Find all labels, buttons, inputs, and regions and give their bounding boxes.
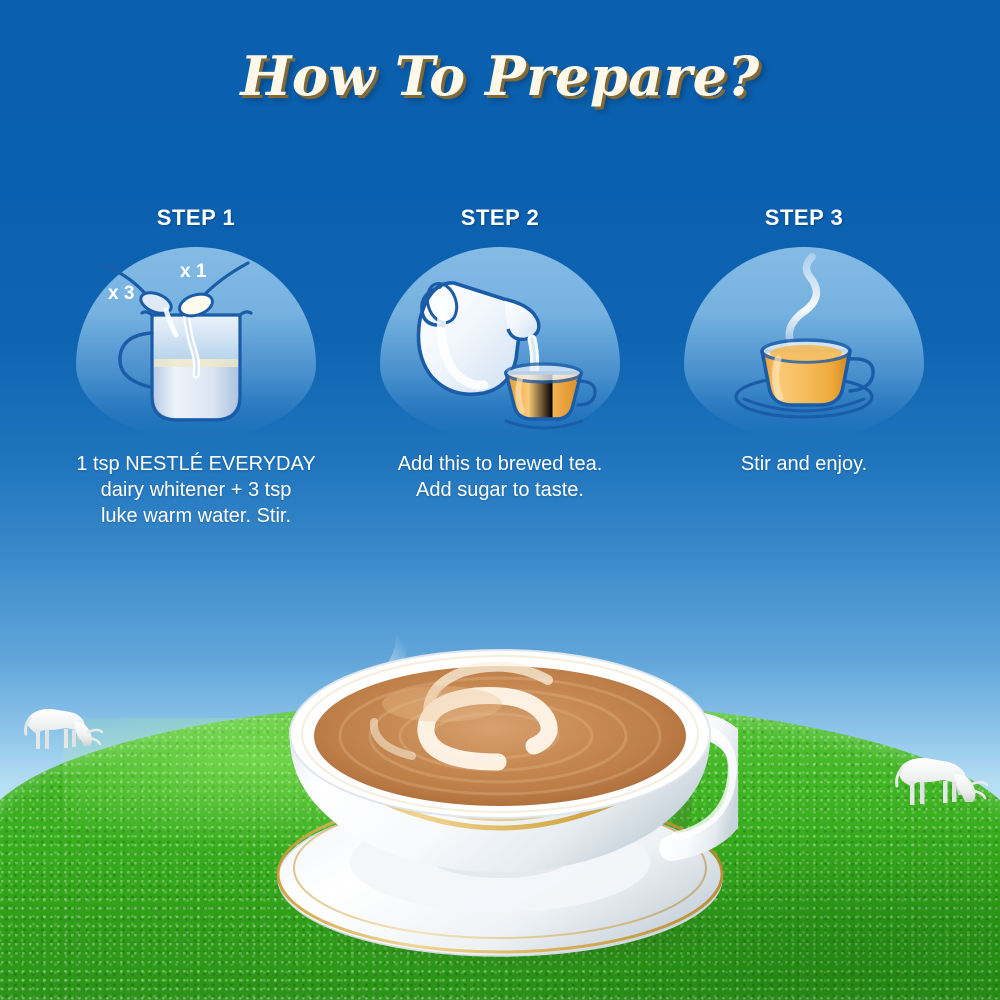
pouring-jug-into-cup-icon bbox=[380, 247, 620, 437]
step-1-label: STEP 1 bbox=[46, 205, 346, 231]
step-3-illustration bbox=[684, 247, 924, 437]
step-3-caption-line-1: Stir and enjoy. bbox=[654, 451, 954, 477]
grazing-cow-icon bbox=[888, 748, 988, 820]
page-title: How To Prepare? bbox=[0, 44, 1000, 108]
step-3-caption: Stir and enjoy. bbox=[654, 451, 954, 477]
step-1-caption-line-2: dairy whitener + 3 tsp bbox=[46, 477, 346, 503]
step-1-illustration: x 3 x 1 bbox=[76, 247, 316, 437]
grazing-cow-icon bbox=[14, 700, 104, 764]
step-2-caption-line-1: Add this to brewed tea. bbox=[350, 451, 650, 477]
step-1-badge-x1: x 1 bbox=[180, 261, 207, 282]
hero-teacup bbox=[262, 556, 738, 976]
steaming-teacup-icon bbox=[684, 247, 924, 437]
step-2-caption-line-2: Add sugar to taste. bbox=[350, 477, 650, 503]
steps-row: STEP 1 bbox=[0, 205, 1000, 565]
cow-right bbox=[888, 748, 988, 820]
poster: How To Prepare? STEP 1 bbox=[0, 0, 1000, 1000]
teacup-with-tea-and-cream-swirl-icon bbox=[262, 556, 738, 976]
cow-left bbox=[14, 700, 104, 764]
pitcher-with-spoons-icon: x 3 x 1 bbox=[76, 247, 316, 437]
step-2-illustration bbox=[380, 247, 620, 437]
step-2: STEP 2 bbox=[350, 205, 650, 565]
step-1-caption-line-3: luke warm water. Stir. bbox=[46, 503, 346, 529]
step-1-badge-x3: x 3 bbox=[108, 283, 134, 304]
step-1: STEP 1 bbox=[46, 205, 346, 565]
step-2-label: STEP 2 bbox=[350, 205, 650, 231]
step-1-caption: 1 tsp NESTLÉ EVERYDAY dairy whitener + 3… bbox=[46, 451, 346, 529]
step-3-label: STEP 3 bbox=[654, 205, 954, 231]
step-3: STEP 3 bbox=[654, 205, 954, 565]
step-2-caption: Add this to brewed tea. Add sugar to tas… bbox=[350, 451, 650, 503]
step-1-caption-line-1: 1 tsp NESTLÉ EVERYDAY bbox=[46, 451, 346, 477]
